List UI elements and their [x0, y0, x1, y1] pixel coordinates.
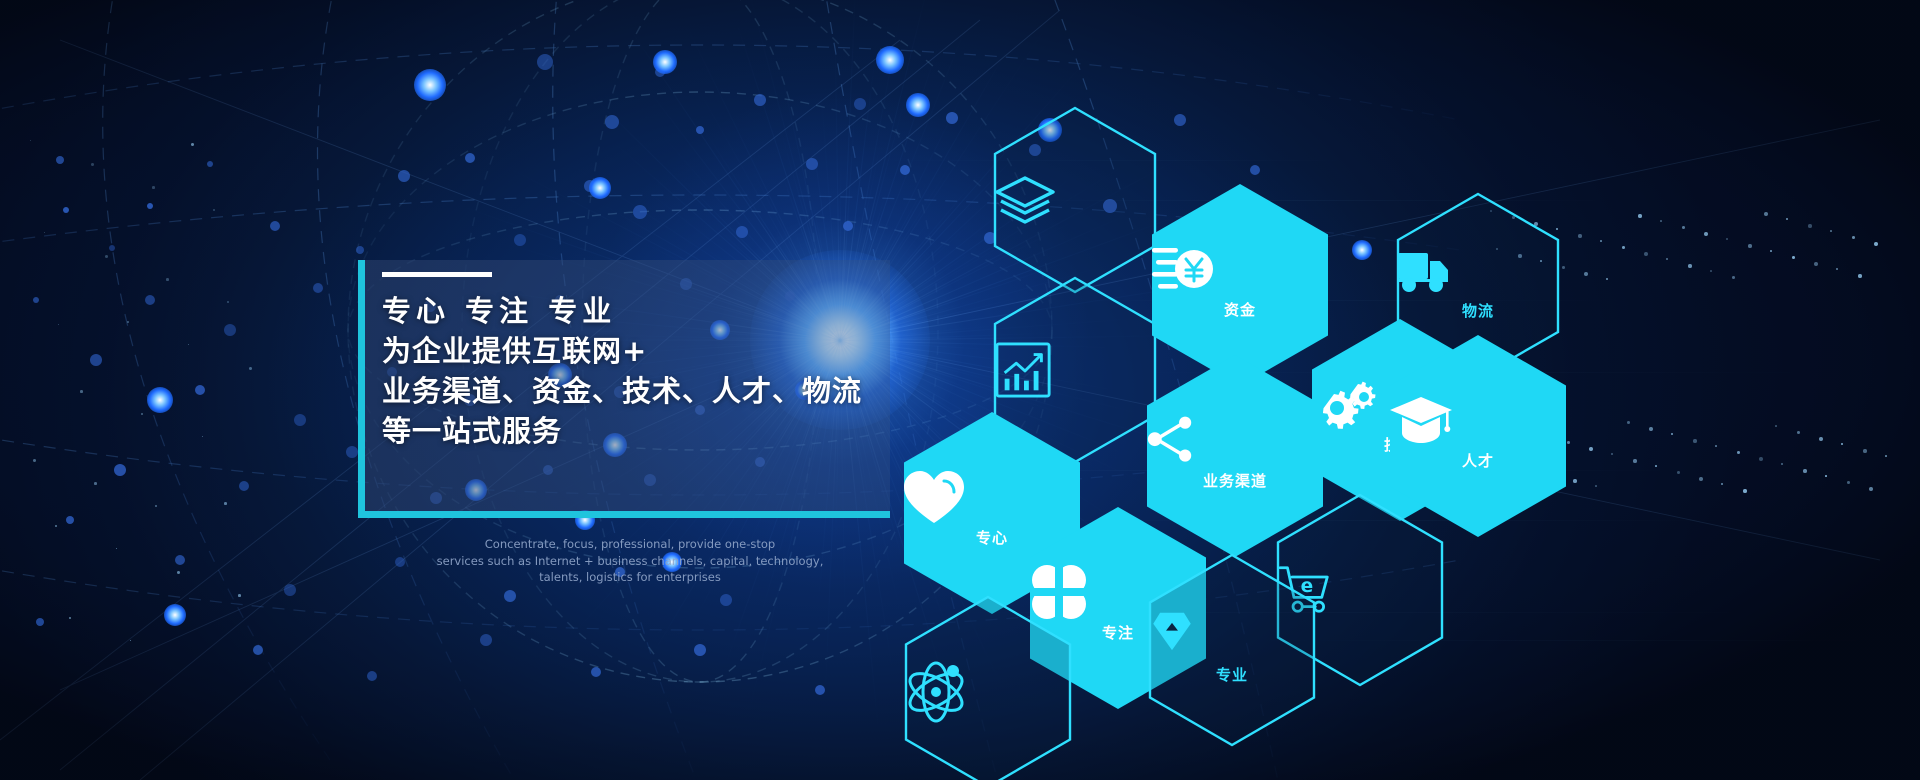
hex-label-capital: 资金	[1152, 299, 1328, 320]
hex-label-professional: 专业	[1150, 664, 1314, 685]
layers-icon	[995, 176, 1055, 224]
hex-label-logistics: 物流	[1398, 300, 1558, 321]
diamond-icon	[1150, 611, 1194, 657]
graduation-cap-icon	[1390, 397, 1452, 443]
heart-icon	[904, 471, 964, 523]
hex-professional[interactable]: 专业	[1150, 555, 1314, 745]
yen-money-icon	[1152, 243, 1214, 295]
hex-atom[interactable]	[906, 597, 1070, 780]
hex-label-channels: 业务渠道	[1147, 470, 1323, 491]
share-nodes-icon	[1147, 414, 1199, 466]
hexagon-cluster: 资金 物流 技术 专心 业务渠道 人才 专注	[0, 0, 1920, 780]
hex-layers[interactable]	[995, 108, 1155, 292]
atom-icon	[906, 662, 966, 722]
truck-icon	[1398, 247, 1450, 293]
chart-report-icon	[995, 341, 1053, 399]
hex-label-talents: 人才	[1390, 450, 1566, 471]
banner-root: 专心 专注 专业 为企业提供互联网+ 业务渠道、资金、技术、人才、物流 等一站式…	[0, 0, 1920, 780]
